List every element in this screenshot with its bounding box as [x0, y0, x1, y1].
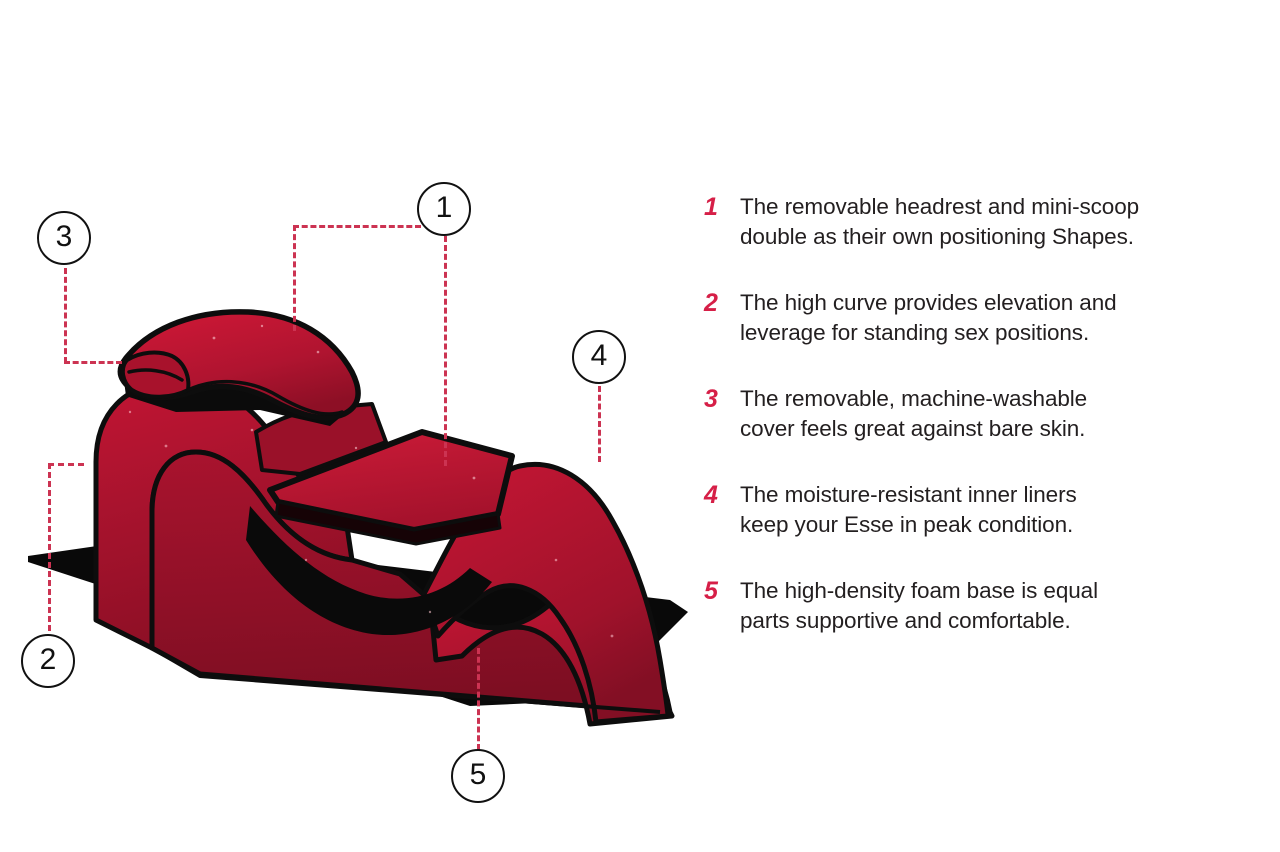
- feature-2-line-2: leverage for standing sex positions.: [740, 318, 1270, 348]
- callout-badge-5[interactable]: 5: [451, 749, 505, 803]
- feature-number-4: 4: [700, 480, 740, 510]
- callout-number-2: 2: [40, 645, 57, 675]
- leader-line-1-horizontal: [293, 225, 421, 228]
- leader-line-2-horizontal: [48, 463, 84, 466]
- feature-number-5: 5: [700, 576, 740, 606]
- feature-text-3: The removable, machine-washable cover fe…: [740, 384, 1270, 444]
- feature-text-1: The removable headrest and mini-scoop do…: [740, 192, 1270, 252]
- leader-line-4-vertical: [598, 386, 601, 462]
- feature-item-1: 1 The removable headrest and mini-scoop …: [700, 192, 1270, 252]
- callout-number-3: 3: [56, 222, 73, 252]
- feature-text-5: The high-density foam base is equal part…: [740, 576, 1270, 636]
- leader-line-3-horizontal: [64, 361, 122, 364]
- leader-line-2-vertical: [48, 463, 51, 631]
- callout-number-1: 1: [436, 193, 453, 223]
- feature-text-4: The moisture-resistant inner liners keep…: [740, 480, 1270, 540]
- feature-text-2: The high curve provides elevation and le…: [740, 288, 1270, 348]
- callout-badge-3[interactable]: 3: [37, 211, 91, 265]
- leader-line-3-vertical: [64, 268, 67, 363]
- callout-badge-1[interactable]: 1: [417, 182, 471, 236]
- leader-line-5-vertical: [477, 648, 480, 750]
- feature-1-line-2: double as their own positioning Shapes.: [740, 222, 1270, 252]
- feature-1-line-1: The removable headrest and mini-scoop: [740, 192, 1270, 222]
- feature-item-5: 5 The high-density foam base is equal pa…: [700, 576, 1270, 636]
- feature-item-4: 4 The moisture-resistant inner liners ke…: [700, 480, 1270, 540]
- feature-number-2: 2: [700, 288, 740, 318]
- callout-number-5: 5: [470, 760, 487, 790]
- leader-line-1-branch-down: [293, 225, 296, 331]
- feature-4-line-2: keep your Esse in peak condition.: [740, 510, 1270, 540]
- feature-number-3: 3: [700, 384, 740, 414]
- feature-3-line-2: cover feels great against bare skin.: [740, 414, 1270, 444]
- callout-badge-4[interactable]: 4: [572, 330, 626, 384]
- feature-5-line-2: parts supportive and comfortable.: [740, 606, 1270, 636]
- feature-item-2: 2 The high curve provides elevation and …: [700, 288, 1270, 348]
- feature-5-line-1: The high-density foam base is equal: [740, 576, 1270, 606]
- feature-2-line-1: The high curve provides elevation and: [740, 288, 1270, 318]
- feature-number-1: 1: [700, 192, 740, 222]
- feature-3-line-1: The removable, machine-washable: [740, 384, 1270, 414]
- leader-line-1-vertical: [444, 236, 447, 466]
- product-illustration: [0, 0, 700, 852]
- feature-item-3: 3 The removable, machine-washable cover …: [700, 384, 1270, 444]
- callout-number-4: 4: [591, 341, 608, 371]
- feature-4-line-1: The moisture-resistant inner liners: [740, 480, 1270, 510]
- callout-badge-2[interactable]: 2: [21, 634, 75, 688]
- feature-list: 1 The removable headrest and mini-scoop …: [700, 192, 1270, 672]
- product-feature-diagram: 1 2 3 4 5 1 The removable headrest and m…: [0, 0, 1280, 852]
